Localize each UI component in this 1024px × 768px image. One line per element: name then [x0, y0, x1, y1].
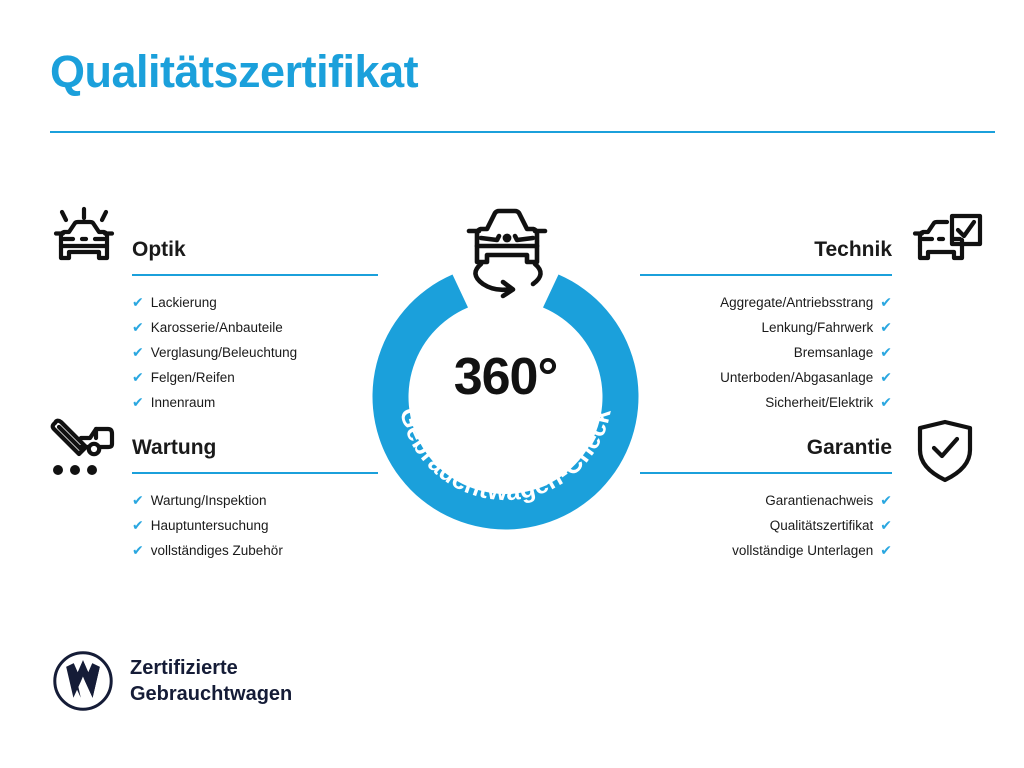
vw-certified-logo: Zertifizierte Gebrauchtwagen [52, 650, 292, 712]
list-item-label: Verglasung/Beleuchtung [151, 341, 297, 365]
list-item-label: Sicherheit/Elektrik [765, 391, 873, 415]
list-item: Garantienachweis✔ [640, 488, 892, 513]
section-wartung-list: ✔Wartung/Inspektion ✔Hauptuntersuchung ✔… [132, 488, 378, 563]
page-title: Qualitätszertifikat [50, 48, 418, 95]
vw-logo [52, 650, 114, 712]
list-item-label: Felgen/Reifen [151, 366, 235, 390]
list-item: Lenkung/Fahrwerk✔ [640, 315, 892, 340]
section-technik-list: Aggregate/Antriebsstrang✔ Lenkung/Fahrwe… [640, 290, 892, 415]
list-item-label: vollständige Unterlagen [732, 539, 873, 563]
car-front-checkbox-icon [906, 212, 984, 278]
section-wartung-header: Wartung [132, 434, 378, 474]
list-item-label: Lenkung/Fahrwerk [761, 316, 873, 340]
check-icon: ✔ [132, 390, 144, 414]
check-icon: ✔ [132, 340, 144, 364]
list-item: ✔Karosserie/Anbauteile [132, 315, 378, 340]
list-item-label: Bremsanlage [794, 341, 874, 365]
section-wartung: Wartung ✔Wartung/Inspektion ✔Hauptunters… [132, 434, 378, 563]
certificate-page: Qualitätszertifikat Optik ✔Lackierung ✔K… [0, 0, 1024, 768]
list-item: Aggregate/Antriebsstrang✔ [640, 290, 892, 315]
list-item-label: Aggregate/Antriebsstrang [720, 291, 873, 315]
check-icon: ✔ [880, 365, 892, 389]
badge-center-label: 360° [367, 347, 644, 407]
list-item: ✔Felgen/Reifen [132, 365, 378, 390]
check-icon: ✔ [132, 513, 144, 537]
list-item: ✔Verglasung/Beleuchtung [132, 340, 378, 365]
list-item: ✔Hauptuntersuchung [132, 513, 378, 538]
section-technik-underline [640, 274, 892, 276]
list-item-label: Qualitätszertifikat [770, 514, 874, 538]
check-icon: ✔ [880, 290, 892, 314]
section-optik-title: Optik [132, 236, 378, 264]
footer-logo-text: Zertifizierte Gebrauchtwagen [130, 655, 292, 707]
section-technik-header: Technik [640, 236, 892, 276]
list-item: vollständige Unterlagen✔ [640, 538, 892, 563]
list-item: ✔Wartung/Inspektion [132, 488, 378, 513]
list-item-label: Innenraum [151, 391, 216, 415]
section-optik-header: Optik [132, 236, 378, 276]
list-item-label: Lackierung [151, 291, 217, 315]
list-item: Sicherheit/Elektrik✔ [640, 390, 892, 415]
list-item-label: Karosserie/Anbauteile [151, 316, 283, 340]
check-icon: ✔ [880, 538, 892, 562]
list-item: Qualitätszertifikat✔ [640, 513, 892, 538]
list-item: ✔vollständiges Zubehör [132, 538, 378, 563]
check-icon: ✔ [880, 488, 892, 512]
list-item-label: Hauptuntersuchung [151, 514, 269, 538]
footer-line-2: Gebrauchtwagen [130, 681, 292, 707]
check-icon: ✔ [880, 390, 892, 414]
section-garantie-header: Garantie [640, 434, 892, 474]
car-front-shine-icon [48, 206, 120, 278]
section-garantie: Garantie Garantienachweis✔ Qualitätszert… [640, 434, 892, 563]
check-icon: ✔ [132, 365, 144, 389]
section-garantie-underline [640, 472, 892, 474]
section-optik: Optik ✔Lackierung ✔Karosserie/Anbauteile… [132, 236, 378, 415]
list-item: ✔Lackierung [132, 290, 378, 315]
check-icon: ✔ [880, 513, 892, 537]
section-garantie-list: Garantienachweis✔ Qualitätszertifikat✔ v… [640, 488, 892, 563]
check-icon: ✔ [132, 290, 144, 314]
list-item-label: Wartung/Inspektion [151, 489, 267, 513]
badge-360-check: Gebrauchtwagen-Check 360° [367, 255, 644, 532]
check-icon: ✔ [132, 538, 144, 562]
shield-check-icon [914, 418, 976, 484]
section-garantie-title: Garantie [640, 434, 892, 462]
section-technik: Technik Aggregate/Antriebsstrang✔ Lenkun… [640, 236, 892, 415]
check-icon: ✔ [880, 340, 892, 364]
section-technik-title: Technik [640, 236, 892, 264]
list-item-label: Unterboden/Abgasanlage [720, 366, 873, 390]
check-icon: ✔ [132, 488, 144, 512]
section-optik-list: ✔Lackierung ✔Karosserie/Anbauteile ✔Verg… [132, 290, 378, 415]
section-wartung-title: Wartung [132, 434, 378, 462]
list-item-label: Garantienachweis [765, 489, 873, 513]
car-front-rotate-icon [453, 200, 561, 302]
section-optik-underline [132, 274, 378, 276]
check-icon: ✔ [880, 315, 892, 339]
list-item: Unterboden/Abgasanlage✔ [640, 365, 892, 390]
check-icon: ✔ [132, 315, 144, 339]
section-wartung-underline [132, 472, 378, 474]
header-divider [50, 131, 995, 133]
footer-line-1: Zertifizierte [130, 655, 292, 681]
list-item: Bremsanlage✔ [640, 340, 892, 365]
list-item: ✔Innenraum [132, 390, 378, 415]
dipstick-car-oil-icon [46, 414, 120, 482]
list-item-label: vollständiges Zubehör [151, 539, 283, 563]
